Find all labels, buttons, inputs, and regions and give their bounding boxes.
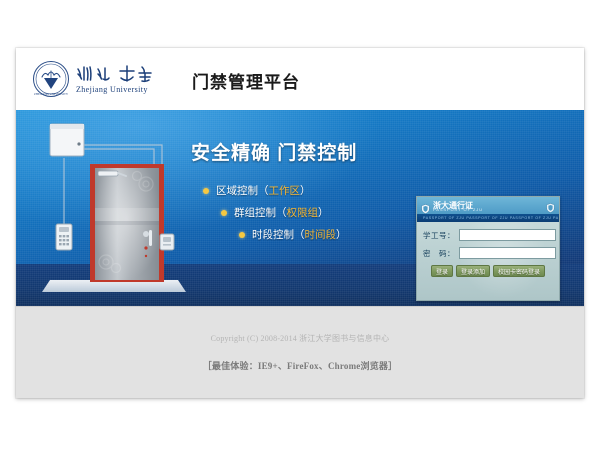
dot-bullet-icon [221, 210, 227, 216]
feature-item-time-control: 时段控制（ 时间段 ） [239, 227, 416, 242]
university-name-en: Zhejiang University [76, 85, 154, 94]
feature-list: 区域控制（ 工作区 ） 群组控制（ 权限组 ） 时段控制（ 时间段 ） [191, 183, 416, 242]
hero-headline: 安全精确 门禁控制 [191, 138, 416, 165]
login-form: 学工号： 密 码： 登录 登录添加 校园卡密码登录 [417, 222, 559, 277]
login-panel-subtitle: PASSPORT OF ZJU [433, 207, 483, 212]
hero-copy: 安全精确 门禁控制 区域控制（ 工作区 ） 群组控制（ 权限组 ） 时段控制（ [191, 138, 416, 249]
login-panel-header: 浙大通行证 PASSPORT OF ZJU [417, 197, 559, 214]
password-field[interactable] [459, 247, 556, 259]
feature-highlight: 时间段 [305, 227, 337, 242]
shield-icon-right [546, 200, 555, 210]
zhejiang-university-seal-icon: ZHEJIANG UNIVERSITY [32, 60, 70, 98]
feature-item-group-control: 群组控制（ 权限组 ） [221, 205, 416, 220]
password-label: 密 码： [423, 248, 455, 259]
login-button[interactable]: 登录 [431, 265, 453, 277]
student-staff-id-row: 学工号： [423, 229, 553, 241]
site-header: ZHEJIANG UNIVERSITY [16, 48, 584, 110]
campus-card-login-button[interactable]: 校园卡密码登录 [493, 265, 545, 277]
login-panel: 浙大通行证 PASSPORT OF ZJU PASSPORT OF ZJU PA… [416, 196, 560, 301]
feature-text: 区域控制（ [216, 183, 269, 198]
login-add-button[interactable]: 登录添加 [456, 265, 490, 277]
feature-text: 时段控制（ [252, 227, 305, 242]
feature-text-end: ） [336, 227, 347, 242]
dot-bullet-icon [239, 232, 245, 238]
university-logo[interactable]: ZHEJIANG UNIVERSITY [32, 60, 154, 98]
feature-text-end: ） [300, 183, 311, 198]
feature-text: 群组控制（ [234, 205, 287, 220]
passport-watermark-text: PASSPORT OF ZJU PASSPORT OF ZJU PASSPORT… [417, 216, 559, 220]
svg-text:ZHEJIANG UNIVERSITY: ZHEJIANG UNIVERSITY [34, 92, 69, 96]
student-staff-id-field[interactable] [459, 229, 556, 241]
browser-support-note: ［最佳体验：IE9+、FireFox、Chrome浏览器］ [203, 359, 398, 372]
password-row: 密 码： [423, 247, 553, 259]
page-card: ZHEJIANG UNIVERSITY [16, 48, 584, 398]
shield-icon [421, 201, 430, 211]
feature-item-area-control: 区域控制（ 工作区 ） [203, 183, 416, 198]
feature-highlight: 工作区 [269, 183, 301, 198]
student-staff-id-label: 学工号： [423, 230, 455, 241]
dot-bullet-icon [203, 188, 209, 194]
passport-watermark-strip: PASSPORT OF ZJU PASSPORT OF ZJU PASSPORT… [417, 214, 559, 222]
hero-banner: 安全精确 门禁控制 区域控制（ 工作区 ） 群组控制（ 权限组 ） 时段控制（ [16, 110, 584, 306]
feature-highlight: 权限组 [287, 205, 319, 220]
copyright-text: Copyright (C) 2008-2014 浙江大学图书与信息中心 [211, 333, 390, 344]
access-control-door-illustration [34, 116, 194, 302]
login-button-group: 登录 登录添加 校园卡密码登录 [423, 265, 553, 277]
university-name-cn [76, 64, 154, 84]
feature-text-end: ） [318, 205, 329, 220]
site-footer: Copyright (C) 2008-2014 浙江大学图书与信息中心 ［最佳体… [16, 306, 584, 398]
page-title: 门禁管理平台 [192, 68, 300, 93]
